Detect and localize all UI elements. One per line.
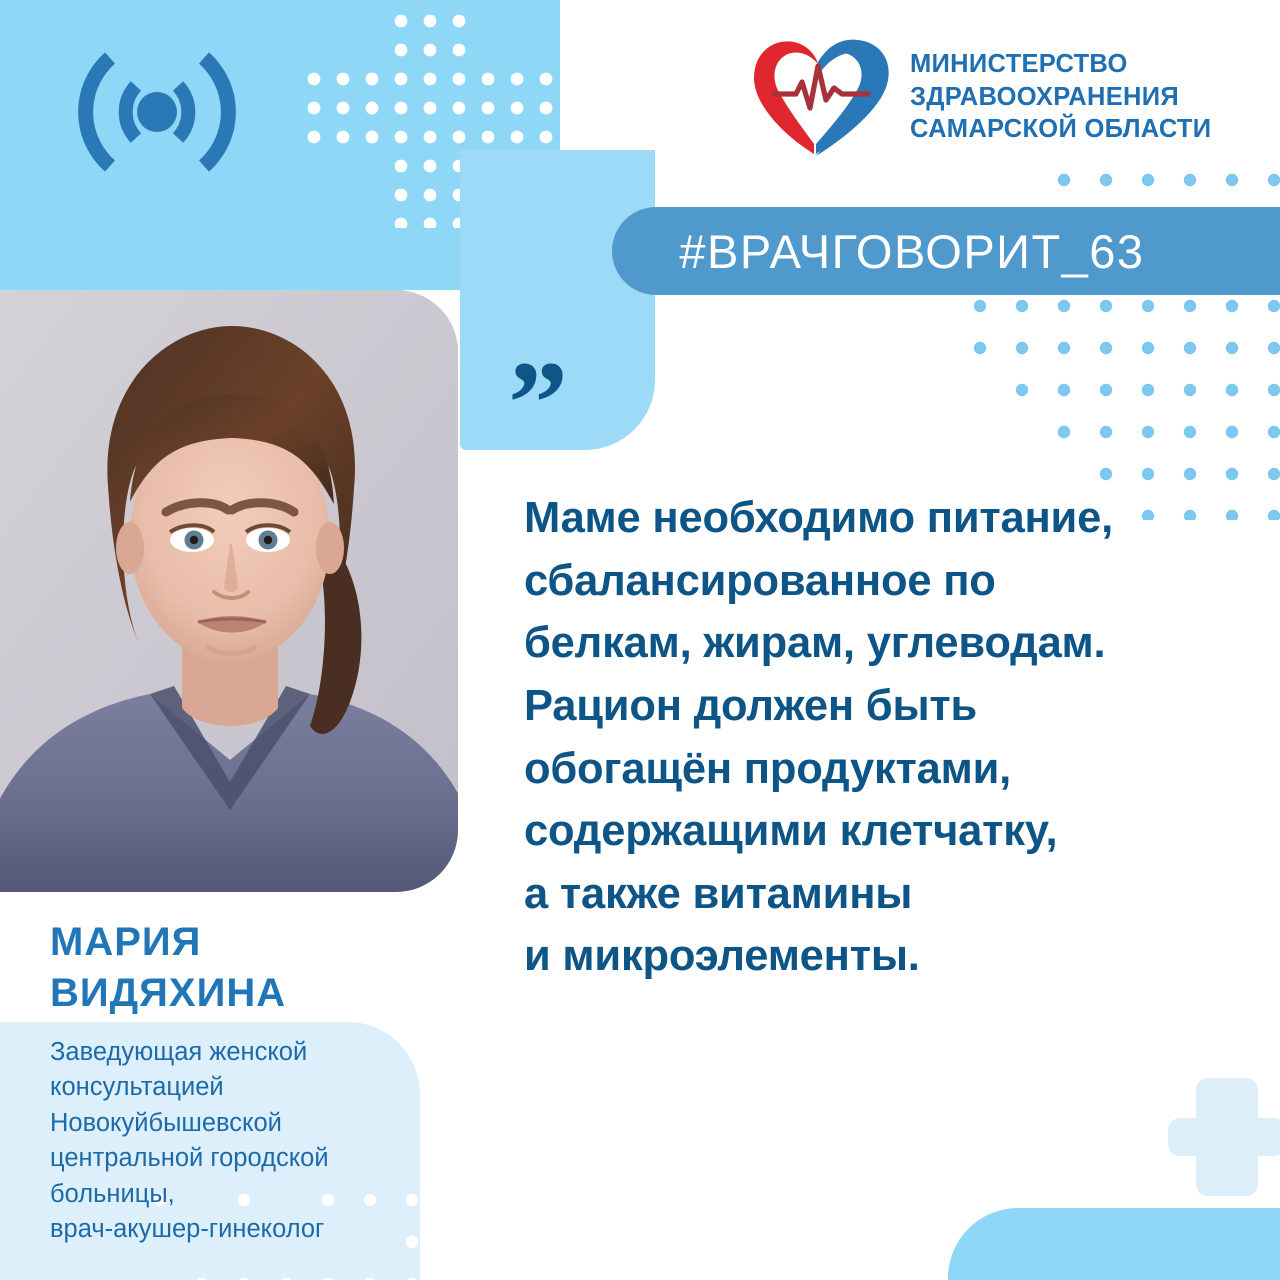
- doctor-name-line-1: МАРИЯ: [50, 917, 286, 968]
- medical-plus-icon: [1168, 1078, 1280, 1196]
- quote-glyph: ”: [508, 355, 570, 451]
- quote-text: Маме необходимо питание, сбалансированно…: [524, 487, 1264, 988]
- quote-line: Маме необходимо питание,: [524, 487, 1264, 550]
- quote-line: и микроэлементы.: [524, 925, 1264, 988]
- quote-line: сбалансированное по: [524, 550, 1264, 613]
- doctor-portrait: [0, 290, 458, 892]
- quote-line: содержащими клетчатку,: [524, 800, 1264, 863]
- logo-line-1: МИНИСТЕРСТВО: [910, 48, 1211, 81]
- hashtag-label: #ВРАЧГОВОРИТ_63: [679, 224, 1144, 279]
- job-line: Заведующая женской: [50, 1035, 400, 1070]
- job-line: больницы,: [50, 1177, 400, 1212]
- doctor-name: МАРИЯ ВИДЯХИНА: [50, 917, 286, 1019]
- hashtag-banner: #ВРАЧГОВОРИТ_63: [612, 207, 1280, 295]
- doctor-name-line-2: ВИДЯХИНА: [50, 968, 286, 1019]
- job-line: центральной городской: [50, 1141, 400, 1176]
- broadcast-waves-icon: [62, 42, 252, 182]
- quote-line: Рацион должен быть: [524, 675, 1264, 738]
- infographic-card: ” #ВРАЧГОВОРИТ_63 МИНИСТЕРСТВО ЗДРАВООХР…: [0, 0, 1280, 1280]
- job-line: консультацией: [50, 1070, 400, 1105]
- ministry-logo-text: МИНИСТЕРСТВО ЗДРАВООХРАНЕНИЯ САМАРСКОЙ О…: [910, 48, 1211, 146]
- logo-line-2: ЗДРАВООХРАНЕНИЯ: [910, 81, 1211, 114]
- job-line: Новокуйбышевской: [50, 1106, 400, 1141]
- heart-ecg-logo: [752, 36, 892, 158]
- quote-line: а также витамины: [524, 863, 1264, 926]
- quote-line: обогащён продуктами,: [524, 738, 1264, 801]
- ministry-logo: МИНИСТЕРСТВО ЗДРАВООХРАНЕНИЯ САМАРСКОЙ О…: [752, 36, 1211, 158]
- bottom-right-blob: [948, 1208, 1280, 1280]
- logo-line-3: САМАРСКОЙ ОБЛАСТИ: [910, 113, 1211, 146]
- doctor-job-title: Заведующая женской консультацией Новокуй…: [50, 1035, 400, 1248]
- quote-line: белкам, жирам, углеводам.: [524, 612, 1264, 675]
- job-line: врач-акушер-гинеколог: [50, 1212, 400, 1247]
